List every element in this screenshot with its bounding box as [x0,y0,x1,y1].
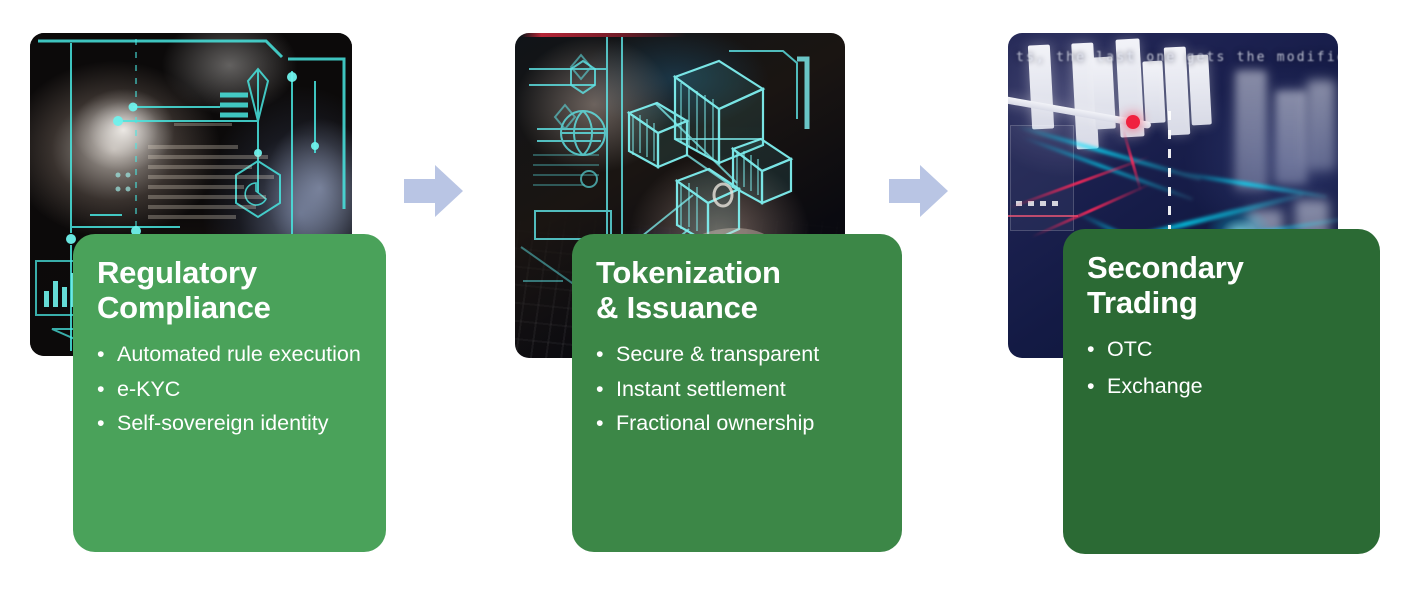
photo-overlay-code-text: ts, the last one gets the modifier un [1016,50,1338,65]
list-item: Fractional ownership [596,410,880,437]
list-item: Exchange [1087,373,1358,400]
list-item: Instant settlement [596,376,880,403]
flow-arrow-1 [404,163,464,219]
list-item: OTC [1087,336,1358,363]
process-step-1: Regulatory Compliance Automated rule exe… [30,33,390,553]
list-item: Secure & transparent [596,341,880,368]
list-item: e-KYC [97,376,364,403]
step-1-title: Regulatory Compliance [97,256,364,325]
step-2-bullet-list: Secure & transparent Instant settlement … [596,341,880,436]
step-1-bullet-list: Automated rule execution e-KYC Self-sove… [97,341,364,436]
step-3-title: Secondary Trading [1087,251,1358,320]
diagram-canvas: Regulatory Compliance Automated rule exe… [0,0,1402,608]
arrow-right-icon [889,163,949,219]
step-3-bullet-list: OTC Exchange [1087,336,1358,399]
process-step-2: Tokenization & Issuance Secure & transpa… [515,33,895,553]
arrow-right-icon [404,163,464,219]
list-item: Self-sovereign identity [97,410,364,437]
flow-arrow-2 [889,163,949,219]
list-item: Automated rule execution [97,341,364,368]
process-step-3: ts, the last one gets the modifier un Se… [1008,33,1383,553]
step-card-1: Regulatory Compliance Automated rule exe… [73,234,386,552]
step-card-2: Tokenization & Issuance Secure & transpa… [572,234,902,552]
step-2-title: Tokenization & Issuance [596,256,880,325]
step-card-3: Secondary Trading OTC Exchange [1063,229,1380,554]
